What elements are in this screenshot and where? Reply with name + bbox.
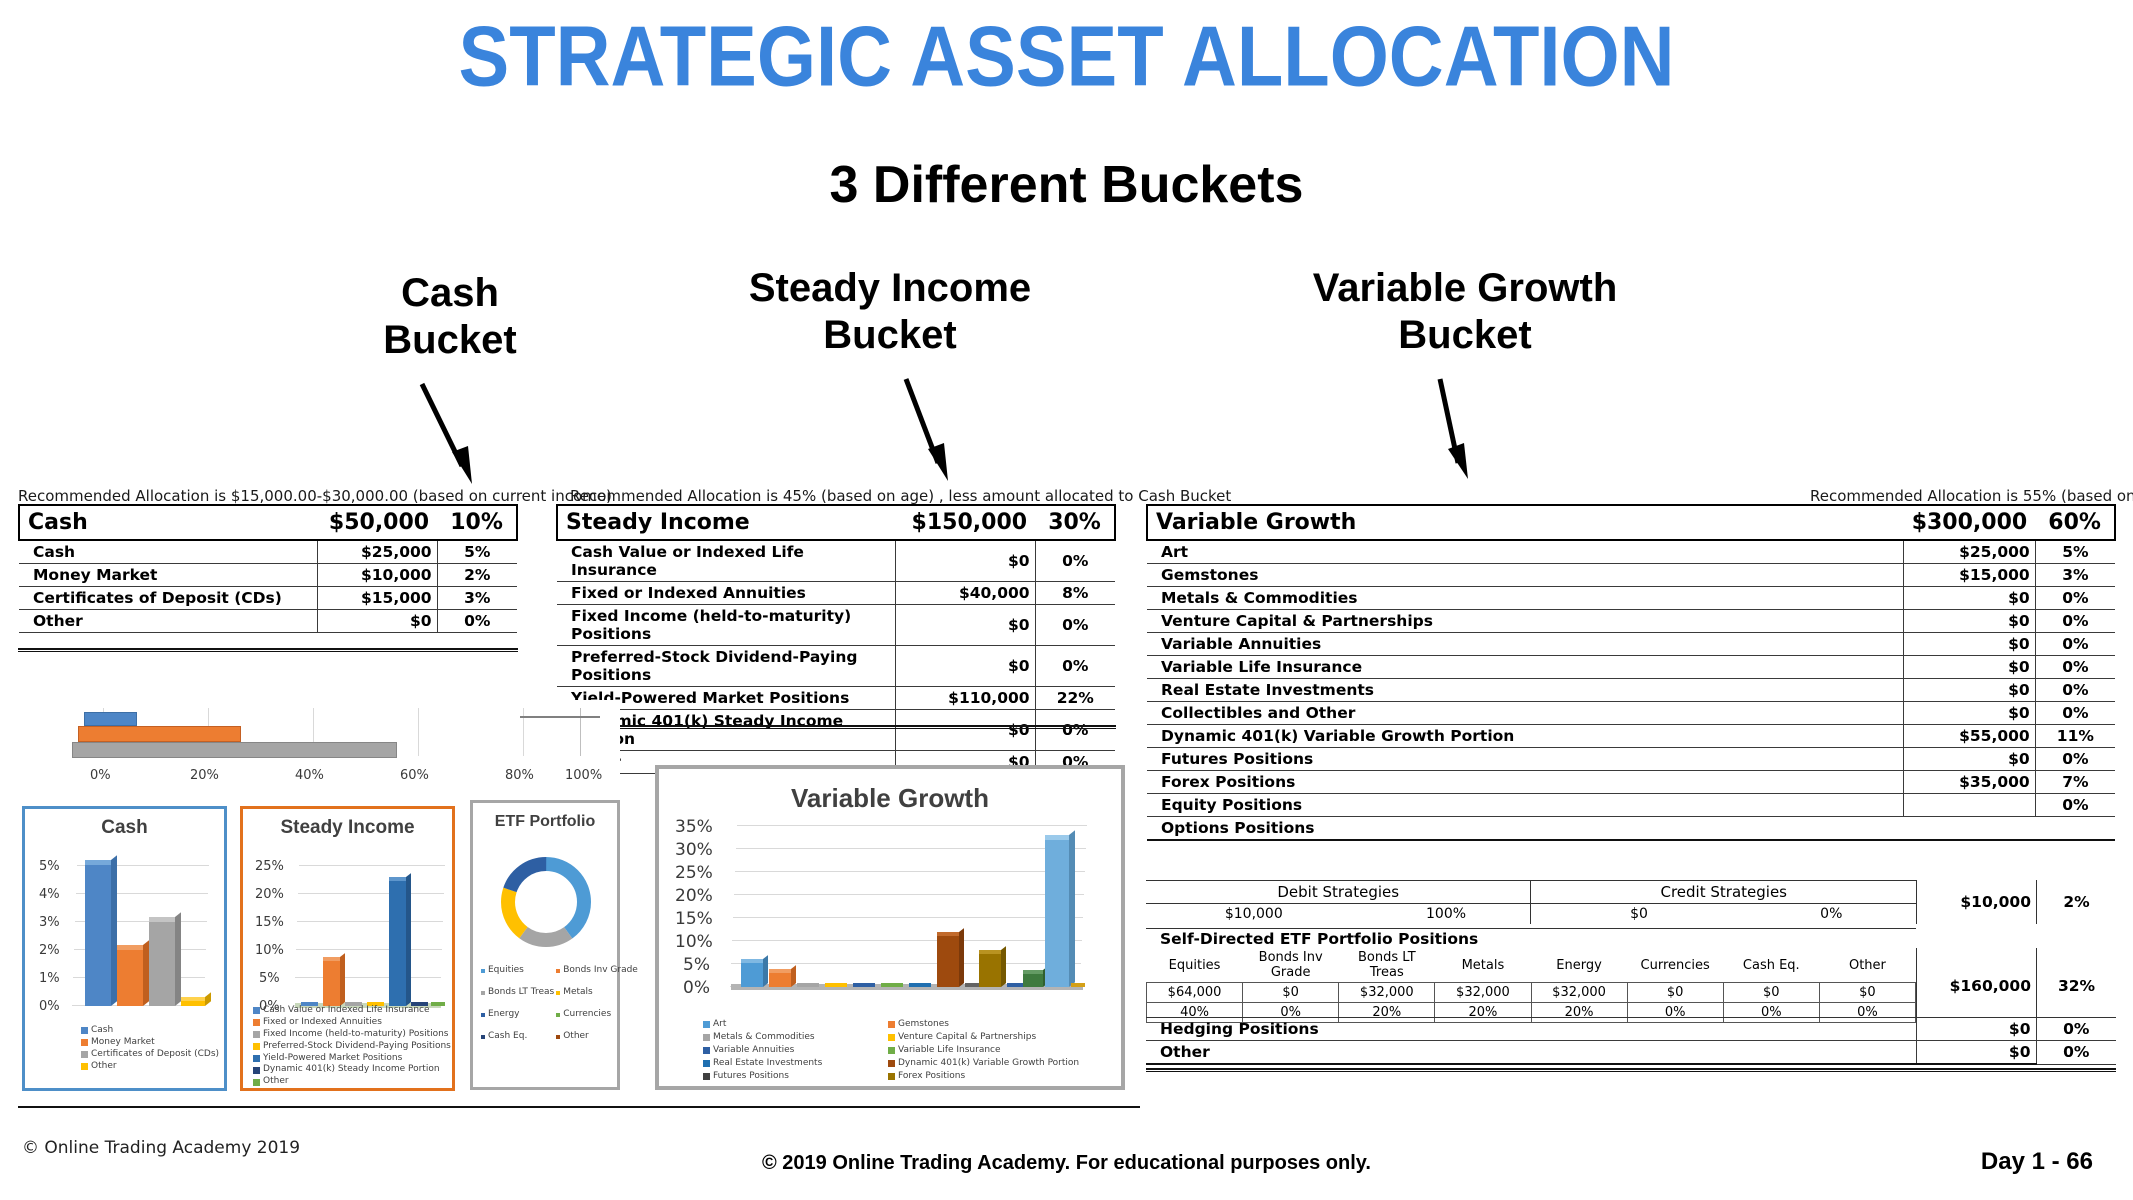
- table-row: Variable Life Insurance$00%: [1147, 656, 2115, 679]
- legend-item: Variable Annuities: [703, 1045, 888, 1057]
- chart-title-steady-income: Steady Income: [243, 817, 452, 839]
- footer-page-number: Day 1 - 66: [1981, 1148, 2093, 1176]
- steady-allocation-note: Recommended Allocation is 45% (based on …: [570, 487, 1231, 505]
- legend-swatch: [81, 1039, 88, 1046]
- vg-row-7-pct: 0%: [2035, 702, 2115, 725]
- gridline: [297, 921, 443, 922]
- arrow-icon-steady: [890, 375, 980, 485]
- cash-row-2-pct: 3%: [437, 587, 517, 610]
- table-row: Variable Annuities$00%: [1147, 633, 2115, 656]
- legend-swatch: [556, 1035, 560, 1039]
- vg-row-4-name: Variable Annuities: [1147, 633, 1904, 656]
- vg-row-0-name: Art: [1147, 540, 1904, 564]
- variable-header-label: Variable Growth: [1147, 505, 1904, 540]
- bar-hedging-positions: [1071, 983, 1085, 987]
- vg-row-9-pct: 0%: [2035, 748, 2115, 771]
- table-row: Certificates of Deposit (CDs) $15,000 3%: [19, 587, 517, 610]
- vg-row-3-pct: 0%: [2035, 610, 2115, 633]
- xtick-20: 20%: [190, 768, 219, 783]
- legend-label: Money Market: [91, 1037, 155, 1049]
- vg-row-7-amount: $0: [1904, 702, 2036, 725]
- bar-certificates-of-deposit: [149, 922, 175, 1006]
- vg-row-6-pct: 0%: [2035, 679, 2115, 702]
- steady-row-5-pct: 0%: [1035, 710, 1115, 751]
- vg-row-7-name: Collectibles and Other: [1147, 702, 1904, 725]
- vg-row-8-amount: $55,000: [1904, 725, 2036, 748]
- table-row: Real Estate Investments$00%: [1147, 679, 2115, 702]
- legend-label: Venture Capital & Partnerships: [898, 1032, 1036, 1044]
- etf-amount-row: $64,000 $0 $32,000 $32,000 $32,000 $0 $0…: [1147, 983, 1916, 1003]
- bar-real-estate-investments: [909, 983, 931, 987]
- arrow-icon-variable: [1420, 375, 1510, 485]
- ytick-steady-10: 10%: [255, 943, 284, 958]
- chart-legend-cash: Cash Money Market Certificates of Deposi…: [81, 1025, 219, 1073]
- legend-label: Other: [91, 1061, 117, 1073]
- legend-item: Equities: [481, 965, 554, 977]
- gridline: [295, 977, 441, 978]
- variable-growth-bucket-table: Variable Growth $300,000 60% Art$25,0005…: [1146, 504, 2116, 841]
- vg-row-3-name: Venture Capital & Partnerships: [1147, 610, 1904, 633]
- legend-label: Equities: [488, 965, 524, 977]
- legend-item: Dynamic 401(k) Steady Income Portion: [253, 1064, 451, 1076]
- vg-row-1-amount: $15,000: [1904, 564, 2036, 587]
- chart-panel-steady-income: Steady Income 25% 20: [240, 806, 455, 1091]
- vg-row-3-amount: $0: [1904, 610, 2036, 633]
- page-subtitle: 3 Different Buckets: [0, 155, 2133, 215]
- table-row: Dynamic 401(k) Variable Growth Portion$5…: [1147, 725, 2115, 748]
- bar-etf-portfolio: [1045, 840, 1069, 987]
- steady-row-2-pct: 0%: [1035, 605, 1115, 646]
- legend-swatch: [481, 991, 485, 995]
- vg-row-2-pct: 0%: [2035, 587, 2115, 610]
- legend-swatch: [888, 1047, 895, 1054]
- cash-allocation-note: Recommended Allocation is $15,000.00-$30…: [18, 487, 612, 505]
- legend-item: Fixed or Indexed Annuities: [253, 1017, 451, 1029]
- chart-title-variable-growth: Variable Growth: [659, 783, 1121, 814]
- chart-legend-variable-growth: Art Gemstones Metals & Commodities Ventu…: [703, 1019, 1103, 1082]
- callout-steady-income-bucket: Steady Income Bucket: [690, 265, 1090, 359]
- table-row: Other $0 0%: [19, 610, 517, 633]
- legend-swatch: [703, 1047, 710, 1054]
- legend-label: Futures Positions: [713, 1071, 789, 1083]
- callout-steady-line1: Steady Income: [690, 265, 1090, 312]
- legend-swatch: [481, 1013, 485, 1017]
- vg-tail-0-amount: $0: [1916, 1018, 2036, 1041]
- bar-dynamic-401k-variable-growth: [937, 936, 959, 987]
- etf-amount-7: $0: [1819, 983, 1915, 1003]
- legend-label: Certificates of Deposit (CDs): [91, 1049, 219, 1061]
- steady-header-amount: $150,000: [895, 505, 1035, 540]
- table-row: Hedging Positions $0 0%: [1146, 1018, 2116, 1041]
- xtick-60: 60%: [400, 768, 429, 783]
- vg-row-4-amount: $0: [1904, 633, 2036, 656]
- ytick-cash-1: 1%: [39, 971, 60, 986]
- bar-gemstones: [769, 973, 791, 987]
- vg-tail-1-name: Other: [1146, 1041, 1916, 1065]
- xtick-100: 100%: [565, 768, 602, 783]
- legend-item: Dynamic 401(k) Variable Growth Portion: [888, 1058, 1103, 1070]
- xtick-40: 40%: [295, 768, 324, 783]
- legend-swatch: [481, 1035, 485, 1039]
- vg-row-11-amount: [1904, 794, 2036, 817]
- table-row: Art$25,0005%: [1147, 540, 2115, 564]
- chart-legend-etf-portfolio: Equities Bonds Inv Grade Bonds LT Treas …: [481, 965, 617, 1043]
- bar-metals-commodities: [797, 983, 819, 987]
- xtick-80: 80%: [505, 768, 534, 783]
- vg-row-10-amount: $35,000: [1904, 771, 2036, 794]
- etf-portfolio-block: Self-Directed ETF Portfolio Positions Eq…: [1146, 928, 2116, 1023]
- strategies-value-row: $10,000 100% $0 0%: [1146, 904, 1916, 925]
- cash-header-row: Cash $50,000 10%: [19, 505, 517, 540]
- legend-swatch: [81, 1051, 88, 1058]
- page-title: STRATEGIC ASSET ALLOCATION: [0, 8, 2133, 105]
- legend-item: Cash: [81, 1025, 219, 1037]
- table-row: Fixed Income (held-to-maturity) Position…: [557, 605, 1115, 646]
- legend-swatch: [481, 969, 485, 973]
- legend-label: Metals & Commodities: [713, 1032, 815, 1044]
- vg-row-9-name: Futures Positions: [1147, 748, 1904, 771]
- vg-row-8-pct: 11%: [2035, 725, 2115, 748]
- chart-legend-steady-income: Cash Value or Indexed Life Insurance Fix…: [253, 1005, 451, 1088]
- etf-section-title: Self-Directed ETF Portfolio Positions: [1146, 928, 1916, 948]
- options-total-amount: $10,000: [1916, 880, 2036, 924]
- ytick-cash-4: 4%: [39, 887, 60, 902]
- legend-item: Forex Positions: [888, 1071, 1103, 1083]
- legend-swatch: [556, 991, 560, 995]
- arrow-icon-cash: [410, 380, 500, 490]
- cash-row-1-pct: 2%: [437, 564, 517, 587]
- legend-label: Art: [713, 1019, 726, 1031]
- bar-other: [181, 1001, 205, 1006]
- legend-label: Forex Positions: [898, 1071, 965, 1083]
- gridline: [731, 963, 1081, 964]
- etf-amount-0: $64,000: [1147, 983, 1243, 1003]
- footer-divider: [18, 1106, 1140, 1108]
- legend-swatch: [703, 1021, 710, 1028]
- legend-label: Cash Eq.: [488, 1031, 527, 1043]
- ytick-vg-0: 0%: [683, 978, 710, 998]
- slide-canvas: STRATEGIC ASSET ALLOCATION 3 Different B…: [0, 0, 2133, 1200]
- legend-label: Cash: [91, 1025, 113, 1037]
- legend-item: Other: [556, 1031, 638, 1043]
- bar-venture-capital: [825, 983, 847, 987]
- cash-row-0-pct: 5%: [437, 540, 517, 564]
- etf-amount-2: $32,000: [1339, 983, 1435, 1003]
- table-row: Forex Positions$35,0007%: [1147, 771, 2115, 794]
- variable-allocation-note: Recommended Allocation is 55% (based on …: [1810, 487, 2133, 505]
- bar-forex-positions: [979, 954, 1001, 987]
- legend-label: Currencies: [563, 1009, 611, 1021]
- legend-swatch: [556, 1013, 560, 1017]
- legend-swatch: [253, 1079, 260, 1086]
- plot-area-variable-growth: [727, 825, 1087, 1005]
- gridline: [299, 865, 445, 866]
- legend-label: Other: [563, 1031, 589, 1043]
- etf-column-headers: Equities Bonds Inv Grade Bonds LT Treas …: [1147, 948, 1916, 983]
- legend-label: Variable Annuities: [713, 1045, 794, 1057]
- vg-tail-1-amount: $0: [1916, 1041, 2036, 1065]
- bar-variable-life-insurance: [881, 983, 903, 987]
- plot-area-cash: [71, 865, 209, 1007]
- ytick-cash-5: 5%: [39, 859, 60, 874]
- table-row: Preferred-Stock Dividend-Paying Position…: [557, 646, 1115, 687]
- ytick-steady-20: 20%: [255, 887, 284, 902]
- steady-header-row: Steady Income $150,000 30%: [557, 505, 1115, 540]
- legend-item: Real Estate Investments: [703, 1058, 888, 1070]
- steady-row-2-name: Fixed Income (held-to-maturity) Position…: [557, 605, 895, 646]
- table-row: Equity Positions0%: [1147, 794, 2115, 817]
- etf-total-amount: $160,000: [1916, 948, 2036, 1023]
- vg-row-5-pct: 0%: [2035, 656, 2115, 679]
- gridline: [296, 949, 442, 950]
- table-row: Money Market $10,000 2%: [19, 564, 517, 587]
- steady-row-0-name: Cash Value or Indexed Life Insurance: [557, 540, 895, 582]
- chart-panel-cash: Cash: [22, 806, 227, 1091]
- bar-yield-powered-positions: [389, 881, 406, 1006]
- vg-options-positions-label: Options Positions: [1147, 817, 1904, 841]
- legend-item: Metals: [556, 987, 638, 999]
- footer-center-text: © 2019 Online Trading Academy. For educa…: [0, 1152, 2133, 1175]
- ytick-vg-5: 5%: [683, 955, 710, 975]
- etf-col-7: Other: [1819, 948, 1915, 983]
- vg-row-9-amount: $0: [1904, 748, 2036, 771]
- bar-options-positions: [1023, 974, 1043, 987]
- bar-cash: [85, 865, 111, 1006]
- legend-label: Bonds Inv Grade: [563, 965, 638, 977]
- steady-row-5-amount: $0: [895, 710, 1035, 751]
- legend-item: Bonds LT Treas: [481, 987, 554, 999]
- cash-row-1-amount: $10,000: [317, 564, 437, 587]
- ytick-vg-35: 35%: [675, 817, 713, 837]
- cash-row-2-name: Certificates of Deposit (CDs): [19, 587, 317, 610]
- callout-cash-line1: Cash: [330, 270, 570, 317]
- vg-tail-1-pct: 0%: [2036, 1041, 2116, 1065]
- gridline: [737, 825, 1087, 826]
- vg-row-4-pct: 0%: [2035, 633, 2115, 656]
- steady-row-3-name: Preferred-Stock Dividend-Paying Position…: [557, 646, 895, 687]
- bar-art: [741, 963, 763, 987]
- chart-title-etf-portfolio: ETF Portfolio: [473, 813, 617, 831]
- vg-row-0-pct: 5%: [2035, 540, 2115, 564]
- gridline: [733, 917, 1083, 918]
- legend-swatch: [253, 1067, 260, 1074]
- legend-swatch: [81, 1063, 88, 1070]
- legend-item: Yield-Powered Market Positions: [253, 1053, 451, 1065]
- ytick-cash-2: 2%: [39, 943, 60, 958]
- chart-title-cash: Cash: [25, 817, 224, 839]
- legend-swatch: [703, 1034, 710, 1041]
- legend-label: Other: [263, 1076, 289, 1088]
- callout-variable-line1: Variable Growth: [1250, 265, 1680, 312]
- variable-header-pct: 60%: [2035, 505, 2115, 540]
- credit-strategies-header: Credit Strategies: [1531, 881, 1916, 904]
- legend-item: Bonds Inv Grade: [556, 965, 638, 977]
- steady-row-3-pct: 0%: [1035, 646, 1115, 687]
- legend-label: Cash Value or Indexed Life Insurance: [263, 1005, 430, 1017]
- strategies-header-row: Debit Strategies Credit Strategies: [1146, 881, 1916, 904]
- legend-item: Certificates of Deposit (CDs): [81, 1049, 219, 1061]
- debit-strategies-header: Debit Strategies: [1146, 881, 1531, 904]
- legend-label: Metals: [563, 987, 593, 999]
- legend-label: Energy: [488, 1009, 520, 1021]
- ytick-steady-15: 15%: [255, 915, 284, 930]
- legend-swatch: [888, 1034, 895, 1041]
- legend-swatch: [253, 1055, 260, 1062]
- variable-header-row: Variable Growth $300,000 60%: [1147, 505, 2115, 540]
- gridline: [732, 940, 1082, 941]
- steady-table-bottom-rule: [556, 725, 1116, 729]
- legend-swatch: [253, 1043, 260, 1050]
- legend-item: Energy: [481, 1009, 554, 1021]
- vg-row-10-pct: 7%: [2035, 771, 2115, 794]
- callout-steady-line2: Bucket: [690, 312, 1090, 359]
- ytick-steady-25: 25%: [255, 859, 284, 874]
- vg-row-1-pct: 3%: [2035, 564, 2115, 587]
- gridline-60: [418, 708, 419, 756]
- etf-col-2: Bonds LT Treas: [1339, 948, 1435, 983]
- cash-bucket-table: Cash $50,000 10% Cash $25,000 5% Money M…: [18, 504, 518, 633]
- legend-swatch: [556, 969, 560, 973]
- ytick-vg-25: 25%: [675, 863, 713, 883]
- legend-label: Real Estate Investments: [713, 1058, 822, 1070]
- vg-tail-0-name: Hedging Positions: [1146, 1018, 1916, 1041]
- etf-col-0: Equities: [1147, 948, 1243, 983]
- legend-item: Other: [81, 1061, 219, 1073]
- vg-row-10-name: Forex Positions: [1147, 771, 1904, 794]
- cash-header-pct: 10%: [437, 505, 517, 540]
- cash-row-2-amount: $15,000: [317, 587, 437, 610]
- etf-col-4: Energy: [1531, 948, 1627, 983]
- bar-variable-annuities: [853, 983, 875, 987]
- credit-pct: 0%: [1747, 904, 1916, 925]
- variable-header-amount: $300,000: [1904, 505, 2036, 540]
- legend-item: Other: [253, 1076, 451, 1088]
- steady-header-pct: 30%: [1035, 505, 1115, 540]
- options-total-pct: 2%: [2036, 880, 2116, 924]
- legend-label: Dynamic 401(k) Variable Growth Portion: [898, 1058, 1079, 1070]
- bar-cash: [84, 712, 137, 726]
- callout-variable-growth-bucket: Variable Growth Bucket: [1250, 265, 1680, 359]
- vg-row-5-name: Variable Life Insurance: [1147, 656, 1904, 679]
- legend-item: Gemstones: [888, 1019, 1103, 1031]
- ytick-vg-15: 15%: [675, 909, 713, 929]
- debit-amount: $10,000: [1146, 904, 1362, 925]
- etf-col-5: Currencies: [1627, 948, 1723, 983]
- debit-pct: 100%: [1362, 904, 1531, 925]
- legend-item: Currencies: [556, 1009, 638, 1021]
- doughnut-chart-etf: [495, 851, 597, 953]
- legend-swatch: [81, 1027, 88, 1034]
- etf-total-pct: 32%: [2036, 948, 2116, 1023]
- ytick-steady-5: 5%: [259, 971, 280, 986]
- legend-item: Cash Value or Indexed Life Insurance: [253, 1005, 451, 1017]
- legend-swatch: [253, 1007, 260, 1014]
- gridline: [735, 871, 1085, 872]
- legend-label: Dynamic 401(k) Steady Income Portion: [263, 1064, 440, 1076]
- table-row: Metals & Commodities$00%: [1147, 587, 2115, 610]
- etf-col-6: Cash Eq.: [1723, 948, 1819, 983]
- ytick-vg-10: 10%: [675, 932, 713, 952]
- legend-label: Gemstones: [898, 1019, 949, 1031]
- table-row: Other $0 0%: [1146, 1041, 2116, 1065]
- table-row: Gemstones$15,0003%: [1147, 564, 2115, 587]
- ytick-vg-20: 20%: [675, 886, 713, 906]
- gridline: [736, 848, 1086, 849]
- legend-label: Fixed Income (held-to-maturity) Position…: [263, 1029, 449, 1041]
- legend-label: Preferred-Stock Dividend-Paying Position…: [263, 1041, 451, 1053]
- legend-label: Yield-Powered Market Positions: [263, 1053, 402, 1065]
- table-row: Cash Value or Indexed Life Insurance $0 …: [557, 540, 1115, 582]
- legend-swatch: [888, 1021, 895, 1028]
- legend-label: Fixed or Indexed Annuities: [263, 1017, 382, 1029]
- vg-row-2-name: Metals & Commodities: [1147, 587, 1904, 610]
- vg-row-11-name: Equity Positions: [1147, 794, 1904, 817]
- bar-money-market: [117, 950, 143, 1006]
- etf-amount-6: $0: [1723, 983, 1819, 1003]
- legend-item: Art: [703, 1019, 888, 1031]
- vg-row-2-amount: $0: [1904, 587, 2036, 610]
- etf-col-3: Metals: [1435, 948, 1531, 983]
- chart-panel-etf-portfolio: ETF Portfolio Equities Bonds Inv Grade B…: [470, 800, 620, 1090]
- table-row: Venture Capital & Partnerships$00%: [1147, 610, 2115, 633]
- vg-row-0-amount: $25,000: [1904, 540, 2036, 564]
- vg-row-5-amount: $0: [1904, 656, 2036, 679]
- steady-row-1-amount: $40,000: [895, 582, 1035, 605]
- callout-cash-bucket: Cash Bucket: [330, 270, 570, 364]
- vg-row-6-amount: $0: [1904, 679, 2036, 702]
- gridline: [298, 893, 444, 894]
- legend-item: Variable Life Insurance: [888, 1045, 1103, 1057]
- legend-label: Variable Life Insurance: [898, 1045, 1001, 1057]
- etf-amount-3: $32,000: [1435, 983, 1531, 1003]
- ytick-cash-0: 0%: [39, 999, 60, 1014]
- legend-label: Bonds LT Treas: [488, 987, 554, 999]
- chart-allocation-overview: 0% 20% 40% 60% 80% 100%: [20, 700, 620, 800]
- legend-swatch: [703, 1073, 710, 1080]
- cash-row-3-amount: $0: [317, 610, 437, 633]
- gridline: [734, 894, 1084, 895]
- legend-item: Preferred-Stock Dividend-Paying Position…: [253, 1041, 451, 1053]
- xtick-0: 0%: [90, 768, 111, 783]
- steady-row-0-amount: $0: [895, 540, 1035, 582]
- plot-area-steady-income: [293, 865, 445, 1007]
- backwall-line: [520, 716, 600, 718]
- etf-amount-5: $0: [1627, 983, 1723, 1003]
- steady-row-1-name: Fixed or Indexed Annuities: [557, 582, 895, 605]
- chart-panel-variable-growth: Variable Growth: [655, 765, 1125, 1090]
- legend-item: Metals & Commodities: [703, 1032, 888, 1044]
- variable-table-bottom-rule: [1146, 1068, 2116, 1072]
- vg-options-amount: [1904, 817, 2036, 841]
- cash-row-0-amount: $25,000: [317, 540, 437, 564]
- bar-steady-income: [78, 726, 241, 742]
- legend-item: Cash Eq.: [481, 1031, 554, 1043]
- legend-swatch: [888, 1073, 895, 1080]
- table-row: Options Positions: [1147, 817, 2115, 841]
- cash-row-3-name: Other: [19, 610, 317, 633]
- legend-swatch: [888, 1060, 895, 1067]
- bar-fixed-indexed-annuities: [323, 961, 340, 1006]
- legend-swatch: [703, 1060, 710, 1067]
- vg-row-11-pct: 0%: [2035, 794, 2115, 817]
- vg-row-1-name: Gemstones: [1147, 564, 1904, 587]
- vg-row-8-name: Dynamic 401(k) Variable Growth Portion: [1147, 725, 1904, 748]
- cash-header-label: Cash: [19, 505, 317, 540]
- steady-header-label: Steady Income: [557, 505, 895, 540]
- legend-item: Futures Positions: [703, 1071, 888, 1083]
- callout-cash-line2: Bucket: [330, 317, 570, 364]
- ytick-cash-3: 3%: [39, 915, 60, 930]
